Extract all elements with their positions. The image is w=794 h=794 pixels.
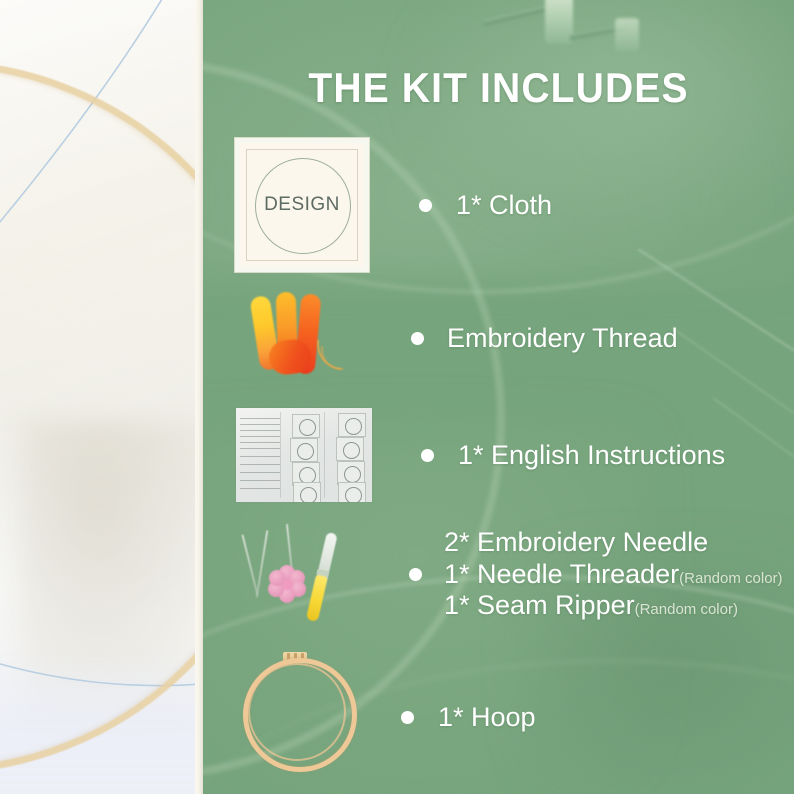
panel-divider [195, 0, 203, 794]
kit-item-hoop: 1* Hoop [241, 650, 536, 766]
tool-line-ripper: 1* Seam Ripper(Random color) [444, 590, 783, 622]
tool-line-needle: 2* Embroidery Needle [444, 527, 783, 559]
cloth-design-label: DESIGN [240, 194, 364, 216]
seam-ripper-icon [305, 531, 339, 620]
page-title: THE KIT INCLUDES [224, 64, 774, 112]
tool-line-threader: 1* Needle Threader(Random color) [444, 559, 783, 591]
large-hoop-arc-icon [0, 60, 203, 774]
kit-item-instructions: 1* English Instructions [236, 408, 725, 502]
hoop-thumbnail [241, 650, 353, 766]
kit-item-label-instructions: 1* English Instructions [458, 440, 725, 471]
bullet-instructions [421, 449, 434, 462]
kit-item-label-hoop: 1* Hoop [438, 702, 536, 733]
hoop-hardware-icon [483, 0, 683, 70]
thread-thumbnail [243, 288, 363, 388]
left-fabric-panel [0, 0, 203, 794]
bullet-thread [411, 332, 424, 345]
kit-item-thread: Embroidery Thread [243, 288, 678, 388]
kit-item-tools: 2* Embroidery Needle 1* Needle Threader(… [243, 522, 783, 627]
cloth-thumbnail: DESIGN [235, 138, 369, 272]
kit-includes-graphic: THE KIT INCLUDES DESIGN 1* Cloth [0, 0, 794, 794]
kit-item-cloth: DESIGN 1* Cloth [235, 138, 552, 272]
thread-streak-3 [713, 398, 794, 464]
flower-threader-icon [267, 564, 307, 604]
bullet-hoop [401, 711, 414, 724]
bullet-tools [409, 568, 422, 581]
bullet-cloth [419, 199, 432, 212]
tools-thumbnail [243, 522, 363, 627]
kit-item-label-thread: Embroidery Thread [447, 323, 678, 354]
kit-item-label-tools: 2* Embroidery Needle 1* Needle Threader(… [444, 527, 783, 623]
green-content-panel: THE KIT INCLUDES DESIGN 1* Cloth [203, 0, 794, 794]
kit-item-label-cloth: 1* Cloth [456, 190, 552, 221]
hoop-ring-inner [248, 663, 346, 761]
thread-streak-2 [671, 327, 794, 414]
instructions-thumbnail [236, 408, 372, 502]
